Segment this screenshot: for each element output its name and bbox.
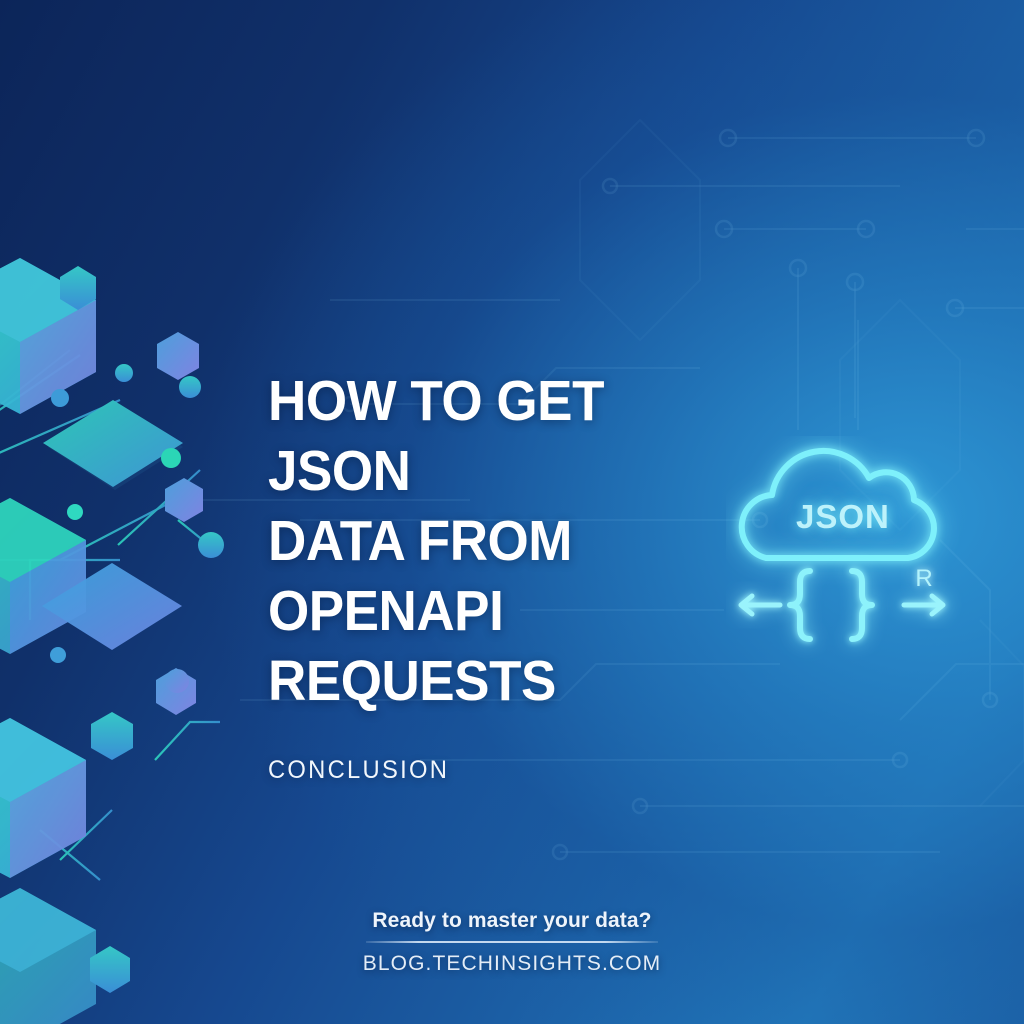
left-arrow-icon — [741, 596, 780, 614]
footer: Ready to master your data? BLOG.TECHINSI… — [0, 908, 1024, 977]
curly-braces — [790, 571, 872, 639]
right-arrow-icon — [904, 596, 943, 614]
social-card: HOW TO GET JSON DATA FROM OPENAPI REQUES… — [0, 0, 1024, 1024]
footer-cta: Ready to master your data? — [0, 908, 1024, 934]
cloud-outline — [742, 451, 934, 558]
footer-url[interactable]: BLOG.TECHINSIGHTS.COM — [0, 951, 1024, 977]
json-cloud-icon: R — [726, 436, 976, 666]
footer-divider — [366, 941, 658, 943]
hero-text-block: HOW TO GET JSON DATA FROM OPENAPI REQUES… — [268, 366, 788, 785]
hero-subtitle: CONCLUSION — [268, 755, 762, 785]
letter-r: R — [915, 565, 932, 592]
isometric-decoration — [0, 0, 260, 1024]
page-title: HOW TO GET JSON DATA FROM OPENAPI REQUES… — [268, 366, 752, 716]
